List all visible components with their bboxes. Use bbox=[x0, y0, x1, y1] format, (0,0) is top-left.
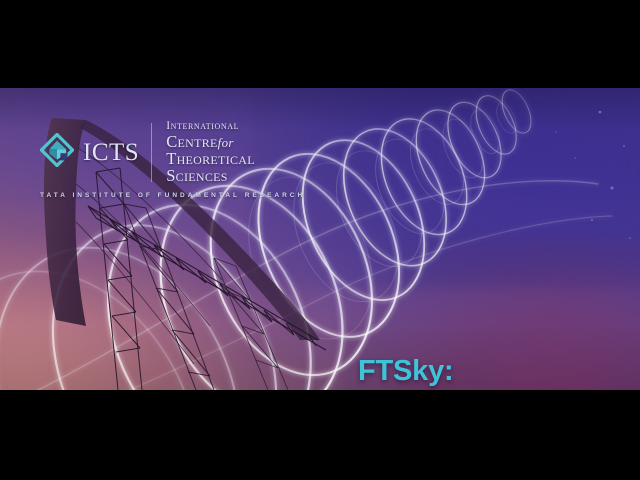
logo-name-line-sciences: Sciences bbox=[166, 167, 255, 184]
video-frame: ICTS International Centrefor Theoretical… bbox=[0, 0, 640, 480]
logo-divider bbox=[151, 123, 152, 182]
letterbox-bar-bottom bbox=[0, 390, 640, 480]
video-title-block: FTSky: Exploring Fast Radio Transients bbox=[358, 354, 634, 390]
icts-wordmark: ICTS bbox=[83, 140, 139, 165]
icts-tagline: TATA INSTITUTE OF FUNDAMENTAL RESEARCH bbox=[40, 192, 305, 199]
icts-cube-mark-icon bbox=[40, 133, 74, 172]
letterbox-bar-top bbox=[0, 0, 640, 88]
icts-full-name: International Centrefor Theoretical Scie… bbox=[166, 121, 255, 184]
video-content-band: ICTS International Centrefor Theoretical… bbox=[0, 88, 640, 390]
logo-name-for-word: for bbox=[218, 135, 234, 150]
logo-name-centre-word: Centre bbox=[166, 132, 217, 151]
icts-logo-lockup: ICTS International Centrefor Theoretical… bbox=[40, 121, 305, 199]
icts-logo-row: ICTS International Centrefor Theoretical… bbox=[40, 121, 305, 184]
title-line-ftsky: FTSky: bbox=[358, 354, 634, 389]
logo-name-line-centre: Centrefor bbox=[166, 133, 255, 150]
logo-name-line-theoretical: Theoretical bbox=[166, 150, 255, 167]
